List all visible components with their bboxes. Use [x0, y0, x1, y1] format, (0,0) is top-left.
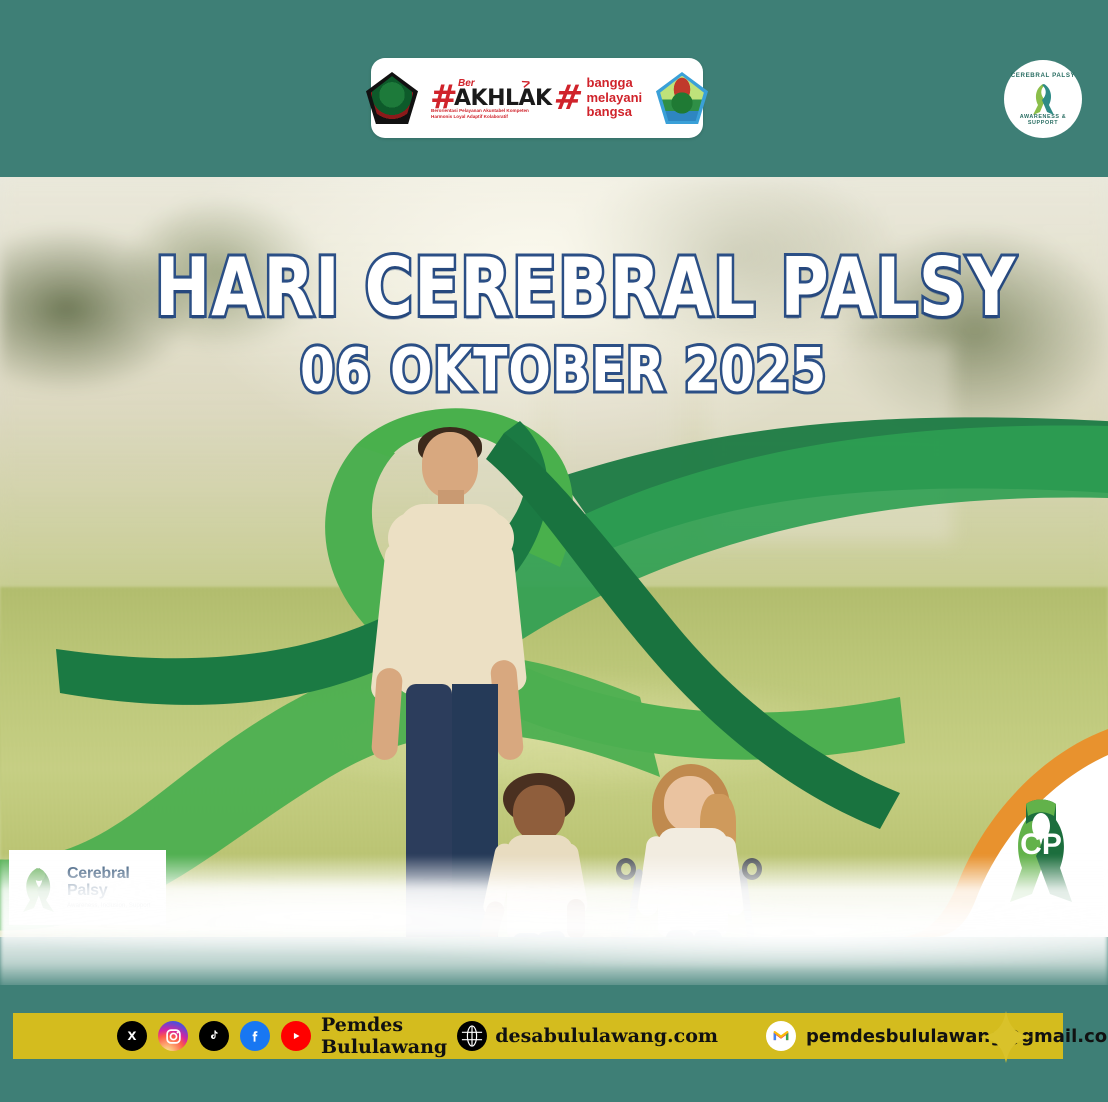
instagram-icon[interactable] — [158, 1021, 188, 1051]
facebook-icon[interactable] — [240, 1021, 270, 1051]
bangga-hash: # — [552, 81, 585, 115]
globe-icon — [457, 1021, 487, 1051]
bangga-line-2: melayani — [587, 91, 643, 106]
social-icons-group: x — [117, 1021, 311, 1051]
social-handle-text: Pemdes Bululawang — [321, 1014, 447, 1058]
tiktok-icon[interactable] — [199, 1021, 229, 1051]
malang-emblem-icon — [656, 72, 708, 124]
government-logo-strip: # Ber AKHLAK > Berorientasi Pelayanan Ak… — [371, 58, 703, 138]
bangga-melayani-bangsa-logo: # bangga melayani bangsa — [554, 74, 644, 122]
bangga-line-1: bangga — [587, 76, 643, 91]
jatim-emblem-icon — [366, 72, 418, 124]
badge-bottom-text: AWARENESS & SUPPORT — [1004, 114, 1082, 126]
youtube-icon[interactable] — [281, 1021, 311, 1051]
akhlak-subtitle: Berorientasi Pelayanan Akuntabel Kompete… — [431, 108, 543, 120]
title-line-1: HARI CEREBRAL PALSY — [155, 248, 1108, 329]
sparkle-icon — [978, 1009, 1034, 1065]
email-text: pemdesbululawang@gmail.com — [806, 1026, 1108, 1047]
poster-title: HARI CEREBRAL PALSY 06 OKTOBER 2025 — [0, 248, 1108, 390]
cerebral-palsy-awareness-badge: CEREBRAL PALSY AWARENESS & SUPPORT — [1004, 60, 1082, 138]
gmail-icon — [766, 1021, 796, 1051]
poster-root: CP Cerebral Palsy Awareness, Inclusion, … — [0, 0, 1108, 1102]
badge-top-text: CEREBRAL PALSY — [1004, 72, 1082, 79]
footer-contact-bar: x Pemdes Bululawang desabululawang.com p… — [13, 1013, 1063, 1059]
email-group: pemdesbululawang@gmail.com — [766, 1021, 1108, 1051]
bangga-line-3: bangsa — [587, 105, 643, 120]
x-icon[interactable]: x — [117, 1021, 147, 1051]
badge-ribbon-icon — [1028, 81, 1058, 117]
title-line-2: 06 OKTOBER 2025 — [300, 340, 1108, 400]
berakhlak-logo: # Ber AKHLAK > Berorientasi Pelayanan Ak… — [430, 74, 542, 122]
website-text: desabululawang.com — [495, 1025, 718, 1047]
